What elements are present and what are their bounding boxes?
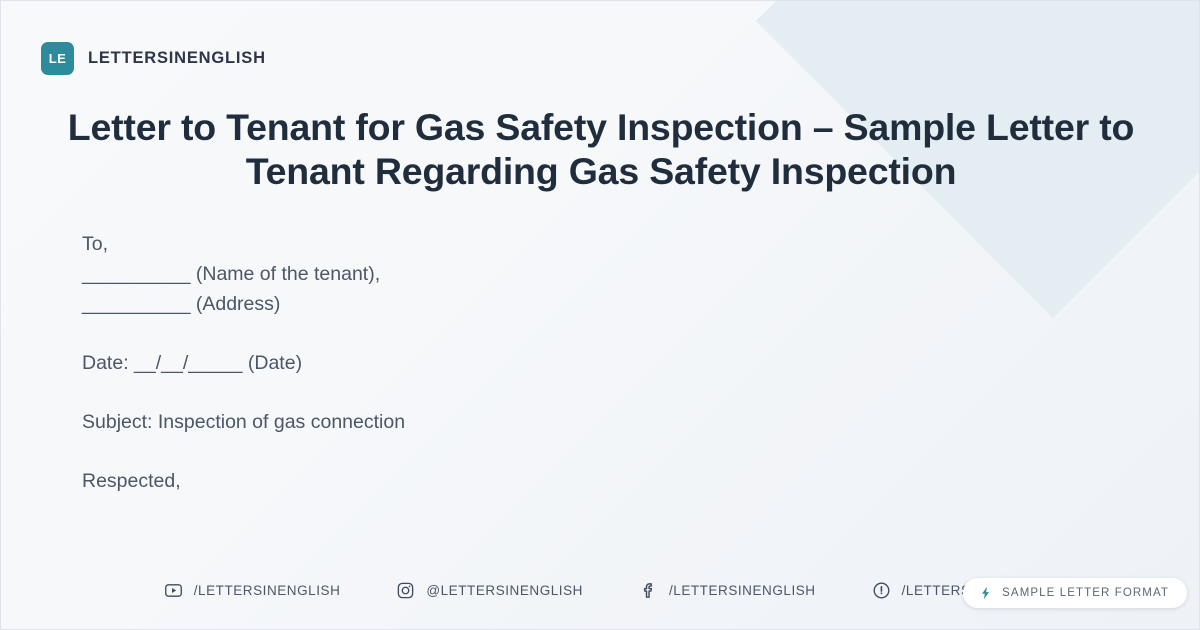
letter-line: Date: __/__/_____ (Date)	[82, 348, 962, 378]
pinterest-icon	[872, 581, 891, 600]
letter-paragraph-subject: Subject: Inspection of gas connection	[82, 407, 962, 437]
brand-logo[interactable]: LE LETTERSINENGLISH	[41, 42, 266, 75]
letter-paragraph-salutation: Respected,	[82, 466, 962, 496]
social-link-youtube[interactable]: /LETTERSINENGLISH	[164, 581, 341, 600]
sample-letter-format-badge[interactable]: SAMPLE LETTER FORMAT	[963, 578, 1187, 608]
letter-line: Respected,	[82, 466, 962, 496]
social-handle-label: /LETTERSINENGLISH	[669, 583, 816, 598]
brand-badge-icon: LE	[41, 42, 74, 75]
letter-paragraph-date: Date: __/__/_____ (Date)	[82, 348, 962, 378]
letter-line: Subject: Inspection of gas connection	[82, 407, 962, 437]
social-handle-label: @LETTERSINENGLISH	[426, 583, 583, 598]
brand-name-label: LETTERSINENGLISH	[88, 49, 266, 68]
letter-line: To,	[82, 229, 962, 259]
social-link-instagram[interactable]: @LETTERSINENGLISH	[396, 581, 583, 600]
lightning-bolt-icon	[978, 585, 993, 601]
facebook-icon	[639, 581, 658, 600]
letter-line: __________ (Name of the tenant),	[82, 259, 962, 289]
letter-paragraph-recipient: To, __________ (Name of the tenant), ___…	[82, 229, 962, 319]
letter-preview-card: LE LETTERSINENGLISH Letter to Tenant for…	[0, 0, 1200, 630]
letter-line: __________ (Address)	[82, 289, 962, 319]
social-link-facebook[interactable]: /LETTERSINENGLISH	[639, 581, 816, 600]
social-handle-label: /LETTERSINENGLISH	[194, 583, 341, 598]
card-content: LE LETTERSINENGLISH Letter to Tenant for…	[1, 1, 1199, 629]
instagram-icon	[396, 581, 415, 600]
youtube-icon	[164, 581, 183, 600]
letter-body: To, __________ (Name of the tenant), ___…	[82, 229, 962, 496]
page-title: Letter to Tenant for Gas Safety Inspecti…	[61, 105, 1141, 193]
badge-label: SAMPLE LETTER FORMAT	[1002, 587, 1169, 599]
